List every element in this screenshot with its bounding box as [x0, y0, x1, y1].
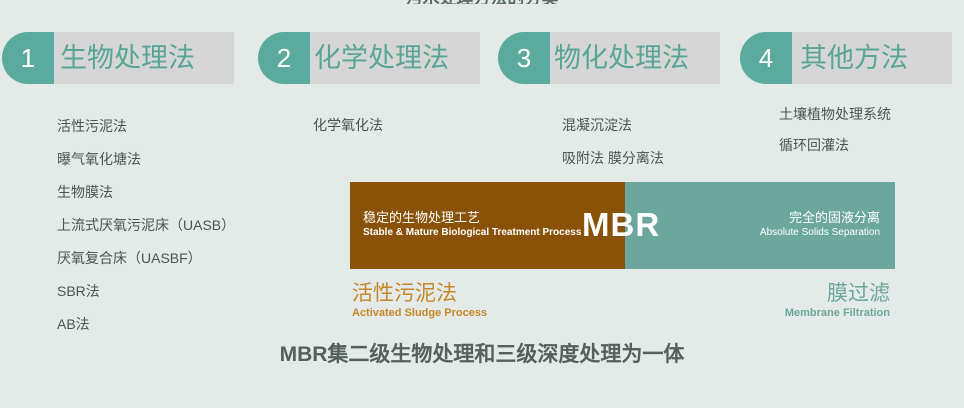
category-title-4: 其他方法: [800, 32, 908, 84]
mbr-caption-right-cn: 膜过滤: [785, 282, 890, 306]
list-item: 混凝沉淀法: [562, 115, 664, 135]
slide-canvas: 污水处理方法的分类 1 生物处理法 2 化学处理法 3 物化处理法 4 其他方法…: [0, 0, 964, 408]
mbr-left-label: 稳定的生物处理工艺 Stable & Mature Biological Tre…: [363, 210, 581, 239]
mbr-caption-left-cn: 活性污泥法: [352, 282, 487, 306]
list-item: 土壤植物处理系统: [779, 104, 891, 124]
mbr-right-label-en: Absolute Solids Separation: [760, 226, 880, 239]
method-list-2: 化学氧化法: [313, 115, 383, 135]
list-item: 化学氧化法: [313, 115, 383, 135]
list-item: 曝气氧化塘法: [57, 149, 235, 169]
mbr-wordmark: MBR: [582, 206, 660, 244]
mbr-caption-left-en: Activated Sludge Process: [352, 306, 487, 321]
list-item: 厌氧复合床（UASBF）: [57, 248, 235, 268]
mbr-diagram: 稳定的生物处理工艺 Stable & Mature Biological Tre…: [350, 182, 895, 269]
category-number-badge-4: 4: [740, 32, 792, 84]
mbr-left-label-en: Stable & Mature Biological Treatment Pro…: [363, 226, 581, 239]
footer-caption: MBR集二级生物处理和三级深度处理为一体: [0, 338, 964, 368]
method-list-4: 土壤植物处理系统 循环回灌法: [779, 104, 891, 166]
method-list-3: 混凝沉淀法 吸附法 膜分离法: [562, 115, 664, 181]
category-number-badge-1: 1: [2, 32, 54, 84]
method-list-1: 活性污泥法 曝气氧化塘法 生物膜法 上流式厌氧污泥床（UASB） 厌氧复合床（U…: [57, 116, 235, 347]
list-item: SBR法: [57, 281, 235, 301]
category-number-badge-2: 2: [258, 32, 310, 84]
list-item: 上流式厌氧污泥床（UASB）: [57, 215, 235, 235]
mbr-right-label-cn: 完全的固液分离: [760, 210, 880, 226]
mbr-caption-right-en: Membrane Filtration: [785, 306, 890, 321]
list-item: 生物膜法: [57, 182, 235, 202]
list-item: AB法: [57, 314, 235, 334]
category-number-badge-3: 3: [498, 32, 550, 84]
category-title-3: 物化处理法: [554, 32, 689, 84]
category-title-2: 化学处理法: [314, 32, 449, 84]
mbr-right-label: 完全的固液分离 Absolute Solids Separation: [760, 210, 880, 239]
mbr-caption-right: 膜过滤 Membrane Filtration: [785, 282, 890, 321]
list-item: 吸附法 膜分离法: [562, 148, 664, 168]
page-title: 污水处理方法的分类: [0, 0, 964, 4]
list-item: 循环回灌法: [779, 135, 891, 155]
mbr-caption-left: 活性污泥法 Activated Sludge Process: [352, 282, 487, 321]
list-item: 活性污泥法: [57, 116, 235, 136]
category-title-1: 生物处理法: [60, 32, 195, 84]
mbr-left-label-cn: 稳定的生物处理工艺: [363, 210, 581, 226]
